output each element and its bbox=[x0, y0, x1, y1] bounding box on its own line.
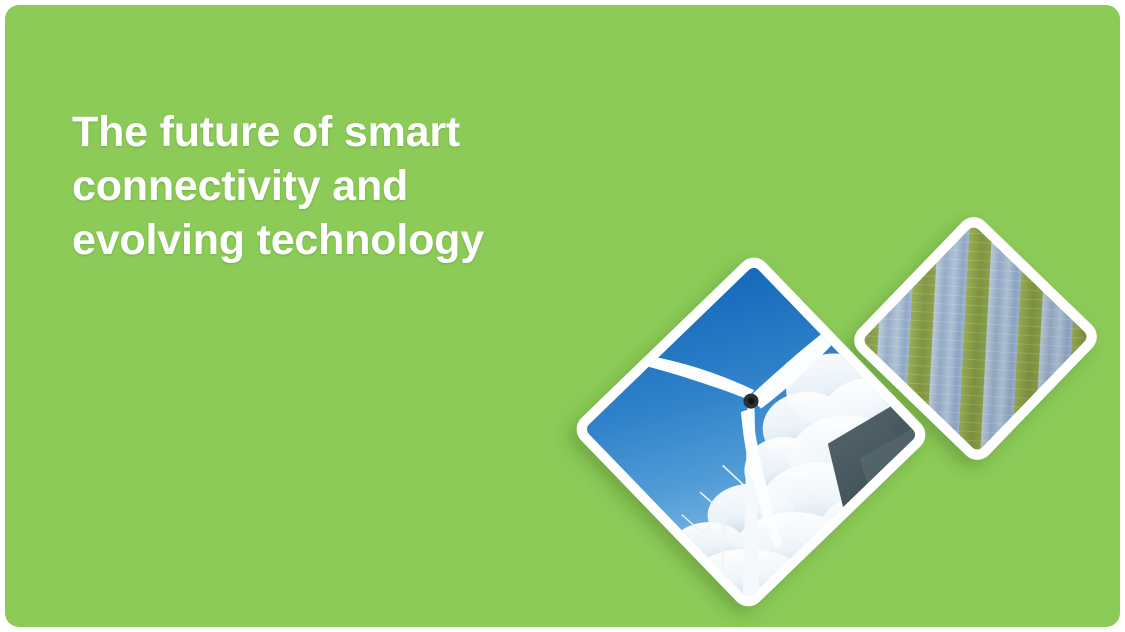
title-line-2: connectivity and bbox=[72, 159, 592, 213]
page-title: The future of smart connectivity and evo… bbox=[72, 105, 592, 267]
wind-turbine-photo-clip bbox=[584, 265, 918, 599]
title-line-1: The future of smart bbox=[72, 105, 592, 159]
wind-turbine-photo-content bbox=[584, 265, 918, 599]
slide: The future of smart connectivity and evo… bbox=[0, 0, 1125, 632]
wind-turbine-photo bbox=[570, 251, 932, 613]
wind-scene-illustration bbox=[584, 265, 918, 599]
title-line-3: evolving technology bbox=[72, 213, 592, 267]
slide-canvas: The future of smart connectivity and evo… bbox=[5, 5, 1120, 627]
